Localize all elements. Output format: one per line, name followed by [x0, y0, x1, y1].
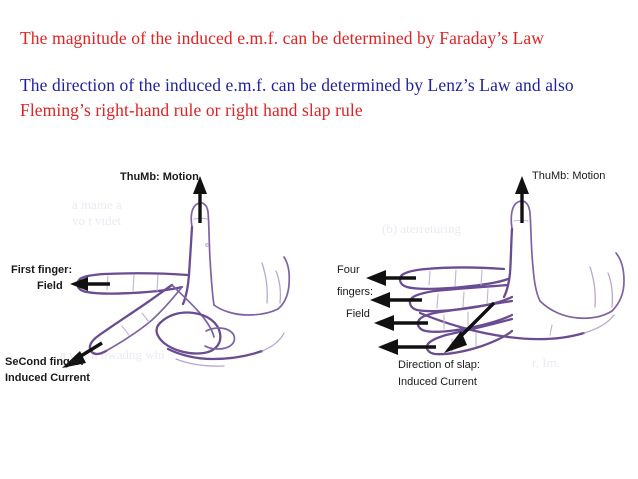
paragraph-lenz: The direction of the induced e.m.f. can …: [20, 73, 620, 123]
arrow-first-finger-field: [70, 277, 110, 291]
paragraph-lenz-lead: The direction of the induced e.m.f. can …: [20, 75, 574, 95]
arrow-field-4: [378, 339, 436, 355]
paragraph-lenz-highlight: Fleming’s right-hand rule or right hand …: [20, 100, 363, 120]
arrow-thumb-motion: [193, 176, 207, 223]
label-thumb-motion: ThuMb: Motion: [532, 170, 605, 182]
scan-ghost-text: a mame a vo t vtdet a wat n bwadng whi: [60, 197, 165, 362]
label-thumb-motion: ThuMb: Motion: [120, 171, 199, 183]
label-four-fingers-line1: Four: [337, 264, 360, 276]
label-first-finger-line1: First finger:: [11, 264, 72, 276]
label-first-finger-line2: Field: [37, 280, 63, 292]
paragraph-faraday: The magnitude of the induced e.m.f. can …: [20, 26, 620, 51]
arrow-thumb-motion: [515, 176, 529, 223]
svg-text:(b) aterreturing: (b) aterreturing: [382, 221, 462, 236]
slide-text-block: The magnitude of the induced e.m.f. can …: [20, 26, 620, 123]
label-second-finger-line2: Induced Current: [5, 372, 90, 384]
diagram-flemings-right-hand-rule: a mame a vo t vtdet a wat n bwadng whi: [0, 163, 312, 391]
label-direction-of-slap-line1: Direction of slap:: [398, 359, 480, 371]
label-four-fingers-line2: fingers:: [337, 286, 373, 298]
svg-text:vo t vtdet: vo t vtdet: [72, 213, 121, 228]
label-second-finger-line1: SeCond finger:: [5, 356, 84, 368]
diagram-right-hand-slap-rule: (b) aterreturing r, Im.: [336, 163, 638, 391]
diagram-row: a mame a vo t vtdet a wat n bwadng whi: [0, 163, 638, 391]
label-four-fingers-line3: Field: [346, 308, 370, 320]
svg-text:a mame a: a mame a: [72, 197, 122, 212]
arrow-field-2: [370, 292, 422, 308]
svg-text:r, Im.: r, Im.: [532, 355, 560, 370]
label-direction-of-slap-line2: Induced Current: [398, 376, 477, 388]
